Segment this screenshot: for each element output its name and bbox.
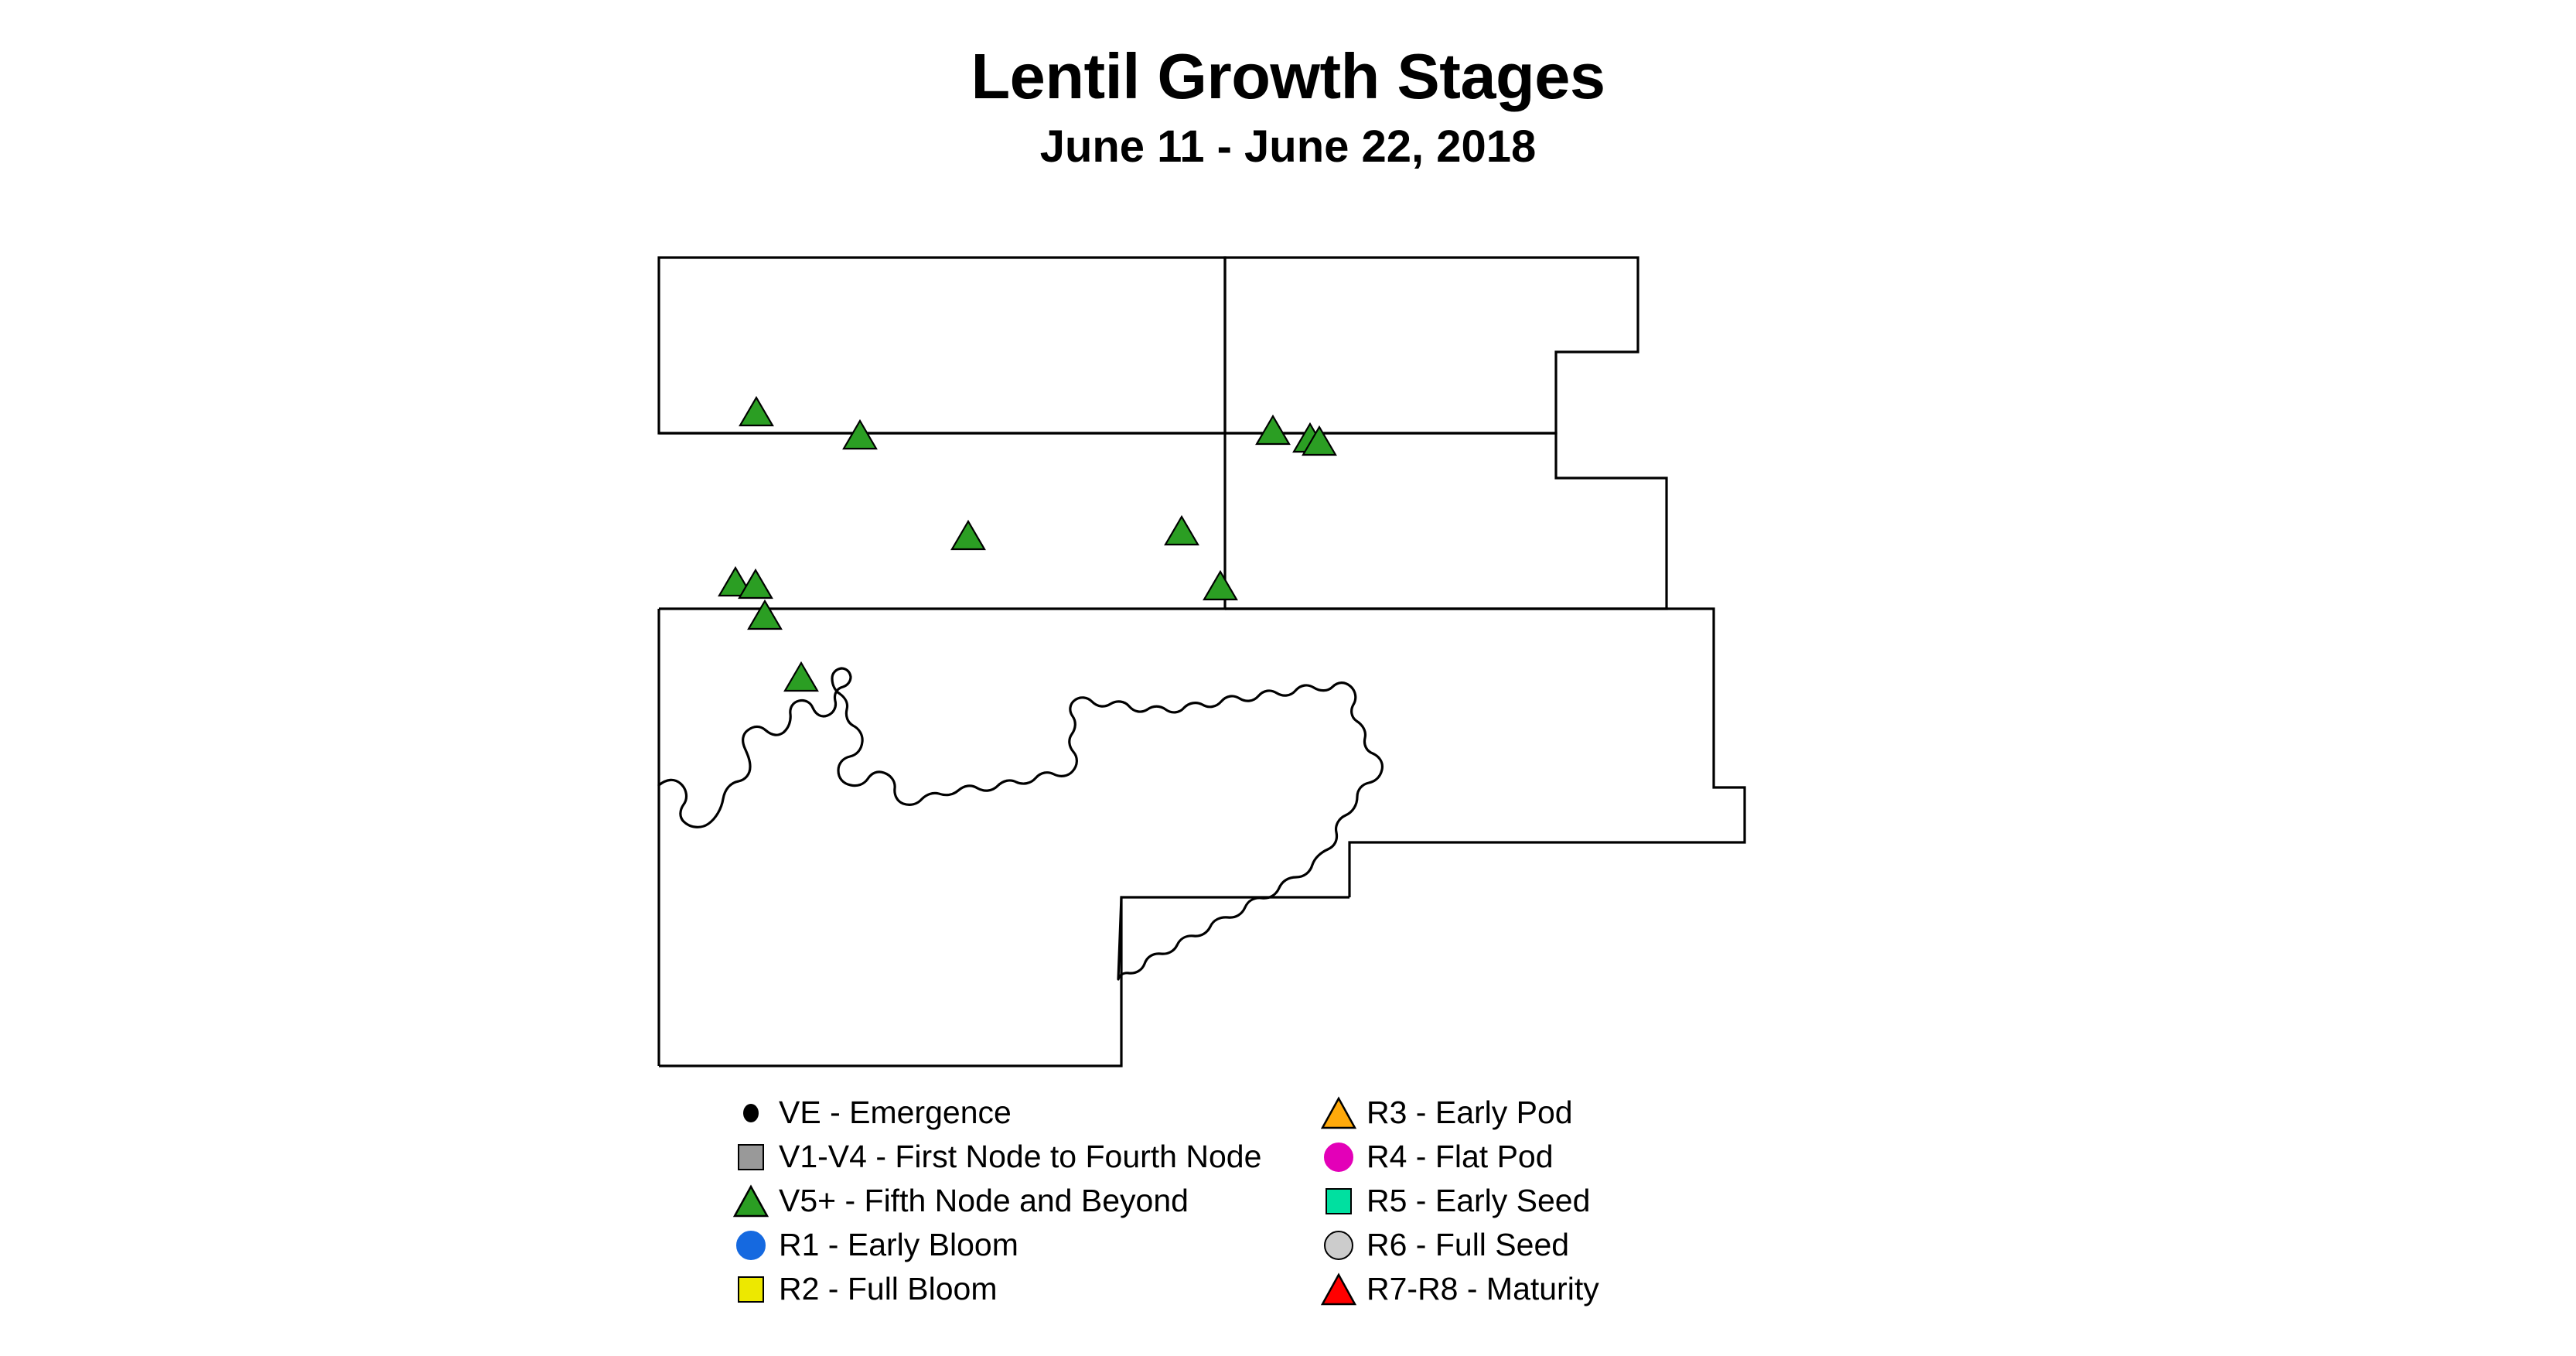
river-boundary — [659, 668, 1382, 979]
legend-item-r5[interactable]: R5 - Early Seed — [1319, 1179, 1599, 1223]
legend-item-r3[interactable]: R3 - Early Pod — [1319, 1091, 1599, 1135]
legend-label-r2: R2 - Full Bloom — [779, 1271, 998, 1307]
legend-item-r2[interactable]: R2 - Full Bloom — [731, 1267, 1261, 1311]
map-marker-v5plus[interactable] — [1204, 572, 1237, 599]
ve-dot-icon — [731, 1095, 771, 1131]
boundary-northeast-county — [1225, 258, 1638, 433]
v1v4-square-icon — [731, 1139, 771, 1175]
boundary-east-central-county — [1225, 433, 1667, 609]
legend-item-r1[interactable]: R1 - Early Bloom — [731, 1223, 1261, 1267]
r3-triangle-icon — [1319, 1095, 1359, 1131]
legend-item-ve[interactable]: VE - Emergence — [731, 1091, 1261, 1135]
r5-square-icon — [1319, 1184, 1359, 1219]
legend-column-right: R3 - Early Pod R4 - Flat Pod R5 - Early … — [1319, 1091, 1599, 1311]
r1-circle-icon — [731, 1228, 771, 1263]
map-marker-v5plus[interactable] — [952, 521, 984, 549]
legend: VE - Emergence V1-V4 - First Node to Fou… — [0, 1091, 2576, 1356]
boundary-northwest-county — [659, 258, 1225, 433]
r2-square-icon — [731, 1272, 771, 1307]
r4-circle-icon — [1319, 1139, 1359, 1175]
legend-label-r4: R4 - Flat Pod — [1366, 1139, 1554, 1175]
map-marker-v5plus[interactable] — [785, 663, 817, 691]
legend-item-v5plus[interactable]: V5+ - Fifth Node and Beyond — [731, 1179, 1261, 1223]
boundary-east-county — [1225, 609, 1745, 826]
legend-item-r7r8[interactable]: R7-R8 - Maturity — [1319, 1267, 1599, 1311]
legend-item-r4[interactable]: R4 - Flat Pod — [1319, 1135, 1599, 1179]
v5plus-triangle-icon — [731, 1184, 771, 1219]
legend-label-r5: R5 - Early Seed — [1366, 1183, 1590, 1219]
r7r8-triangle-icon — [1319, 1272, 1359, 1307]
map-marker-v5plus[interactable] — [1257, 416, 1289, 444]
legend-label-v5plus: V5+ - Fifth Node and Beyond — [779, 1183, 1189, 1219]
boundary-lines — [659, 258, 1745, 1066]
legend-label-r1: R1 - Early Bloom — [779, 1227, 1018, 1263]
boundary-south-edge — [659, 897, 1349, 1066]
r6-circle-icon — [1319, 1228, 1359, 1263]
map-canvas[interactable] — [0, 0, 2576, 1098]
map-marker-v5plus[interactable] — [844, 421, 876, 449]
legend-item-r6[interactable]: R6 - Full Seed — [1319, 1223, 1599, 1267]
legend-column-left: VE - Emergence V1-V4 - First Node to Fou… — [731, 1091, 1261, 1311]
legend-label-r6: R6 - Full Seed — [1366, 1227, 1569, 1263]
legend-item-v1v4[interactable]: V1-V4 - First Node to Fourth Node — [731, 1135, 1261, 1179]
legend-label-v1v4: V1-V4 - First Node to Fourth Node — [779, 1139, 1261, 1175]
map-marker-v5plus[interactable] — [1165, 517, 1198, 545]
legend-label-r3: R3 - Early Pod — [1366, 1095, 1573, 1131]
map-marker-v5plus[interactable] — [749, 601, 781, 629]
boundary-southeast-edge — [1349, 826, 1745, 897]
map-marker-v5plus[interactable] — [740, 398, 773, 425]
marker-layer[interactable] — [719, 398, 1336, 691]
legend-label-r7r8: R7-R8 - Maturity — [1366, 1271, 1599, 1307]
county-boundary-map — [0, 0, 2576, 1098]
legend-label-ve: VE - Emergence — [779, 1095, 1012, 1131]
